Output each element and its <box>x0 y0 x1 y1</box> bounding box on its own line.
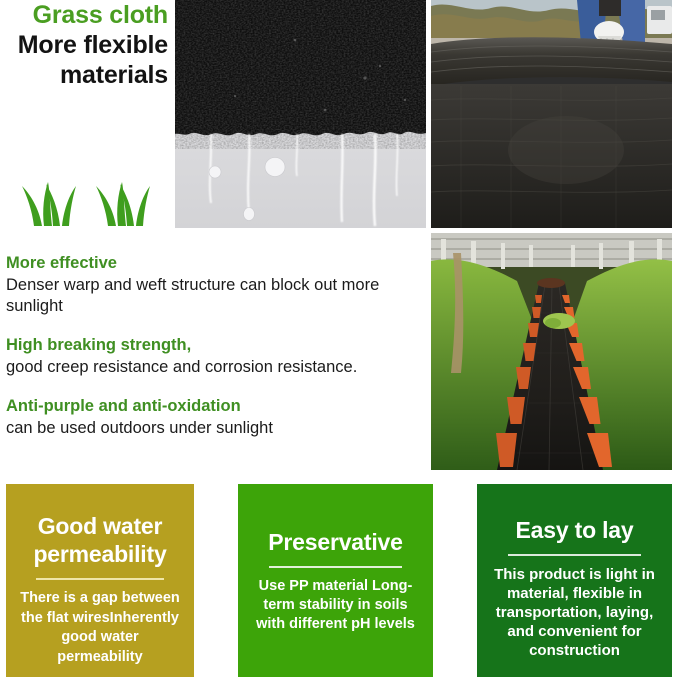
photo-greenhouse-walkway <box>431 233 672 470</box>
feature-item-more-effective: More effective Denser warp and weft stru… <box>6 252 424 317</box>
photo-worker-unrolling-fabric <box>431 0 672 228</box>
feature-title: High breaking strength, <box>6 334 424 356</box>
feature-title: More effective <box>6 252 424 274</box>
card-body: There is a gap between the flat wiresInh… <box>18 589 182 667</box>
card-body: This product is light in material, flexi… <box>489 565 660 660</box>
card-good-water-permeability[interactable]: Good water permeability There is a gap b… <box>6 484 194 677</box>
feature-body: good creep resistance and corrosion resi… <box>6 357 424 378</box>
headline-line-1: Grass cloth <box>0 0 168 30</box>
feature-body: Denser warp and weft structure can block… <box>6 275 424 317</box>
photo-fabric-closeup <box>175 0 426 228</box>
card-body: Use PP material Long-term stability in s… <box>250 577 421 634</box>
headline-line-3: materials <box>0 60 168 90</box>
card-easy-to-lay[interactable]: Easy to lay This product is light in mat… <box>477 484 672 677</box>
benefit-cards: Good water permeability There is a gap b… <box>0 484 679 677</box>
card-divider <box>269 566 402 568</box>
card-preservative[interactable]: Preservative Use PP material Long-term s… <box>238 484 433 677</box>
infographic-page: Grass cloth More flexible materials More… <box>0 0 679 682</box>
card-title: Preservative <box>250 506 421 556</box>
feature-item-anti-oxidation: Anti-purple and anti-oxidation can be us… <box>6 395 424 439</box>
feature-body: can be used outdoors under sunlight <box>6 418 424 439</box>
card-title: Easy to lay <box>489 506 660 544</box>
card-divider <box>36 578 164 580</box>
feature-item-breaking-strength: High breaking strength, good creep resis… <box>6 334 424 378</box>
grass-icon <box>12 160 162 228</box>
headline-line-2: More flexible <box>0 30 168 60</box>
feature-list: More effective Denser warp and weft stru… <box>6 252 424 456</box>
card-title: Good water permeability <box>18 506 182 568</box>
headline-block: Grass cloth More flexible materials <box>0 0 172 100</box>
card-divider <box>508 554 641 556</box>
feature-title: Anti-purple and anti-oxidation <box>6 395 424 417</box>
